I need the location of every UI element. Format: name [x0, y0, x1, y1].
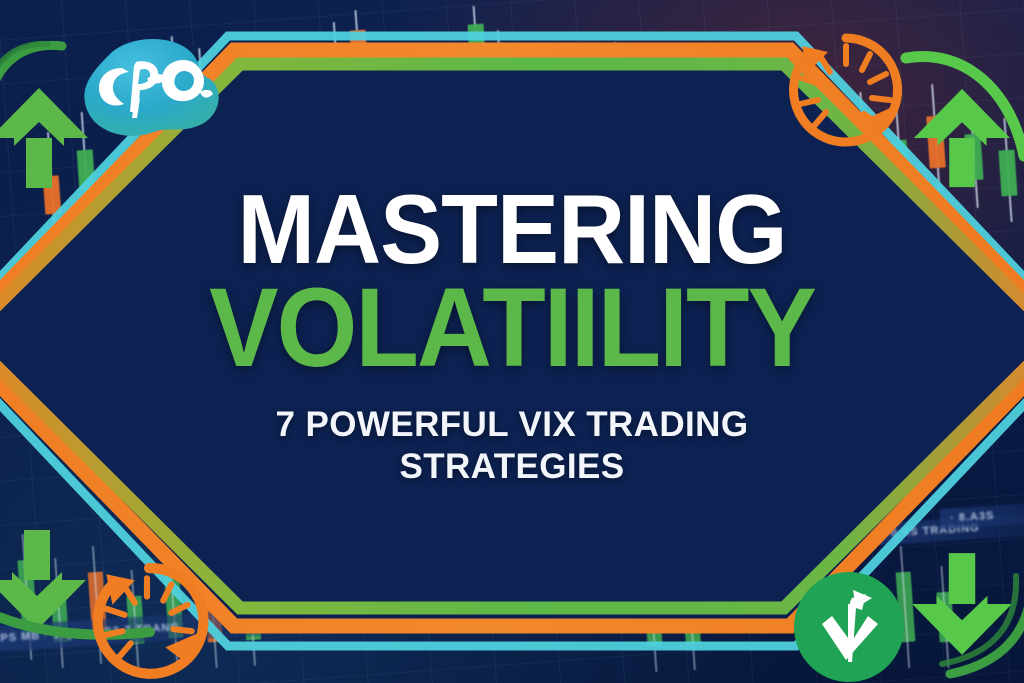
- banner-canvas: PS MB · 1.Q6 · 2.S3 Z TRANG · P.ARG/I SK…: [0, 0, 1024, 683]
- arc-down-icon: [928, 566, 1024, 683]
- brand-logo[interactable]: [74, 32, 224, 152]
- cycle-arrows-icon: [786, 30, 906, 150]
- arrow-up-icon: [908, 82, 1016, 192]
- volatility-badge-icon[interactable]: [790, 568, 908, 683]
- cycle-arrows-icon: [88, 560, 210, 682]
